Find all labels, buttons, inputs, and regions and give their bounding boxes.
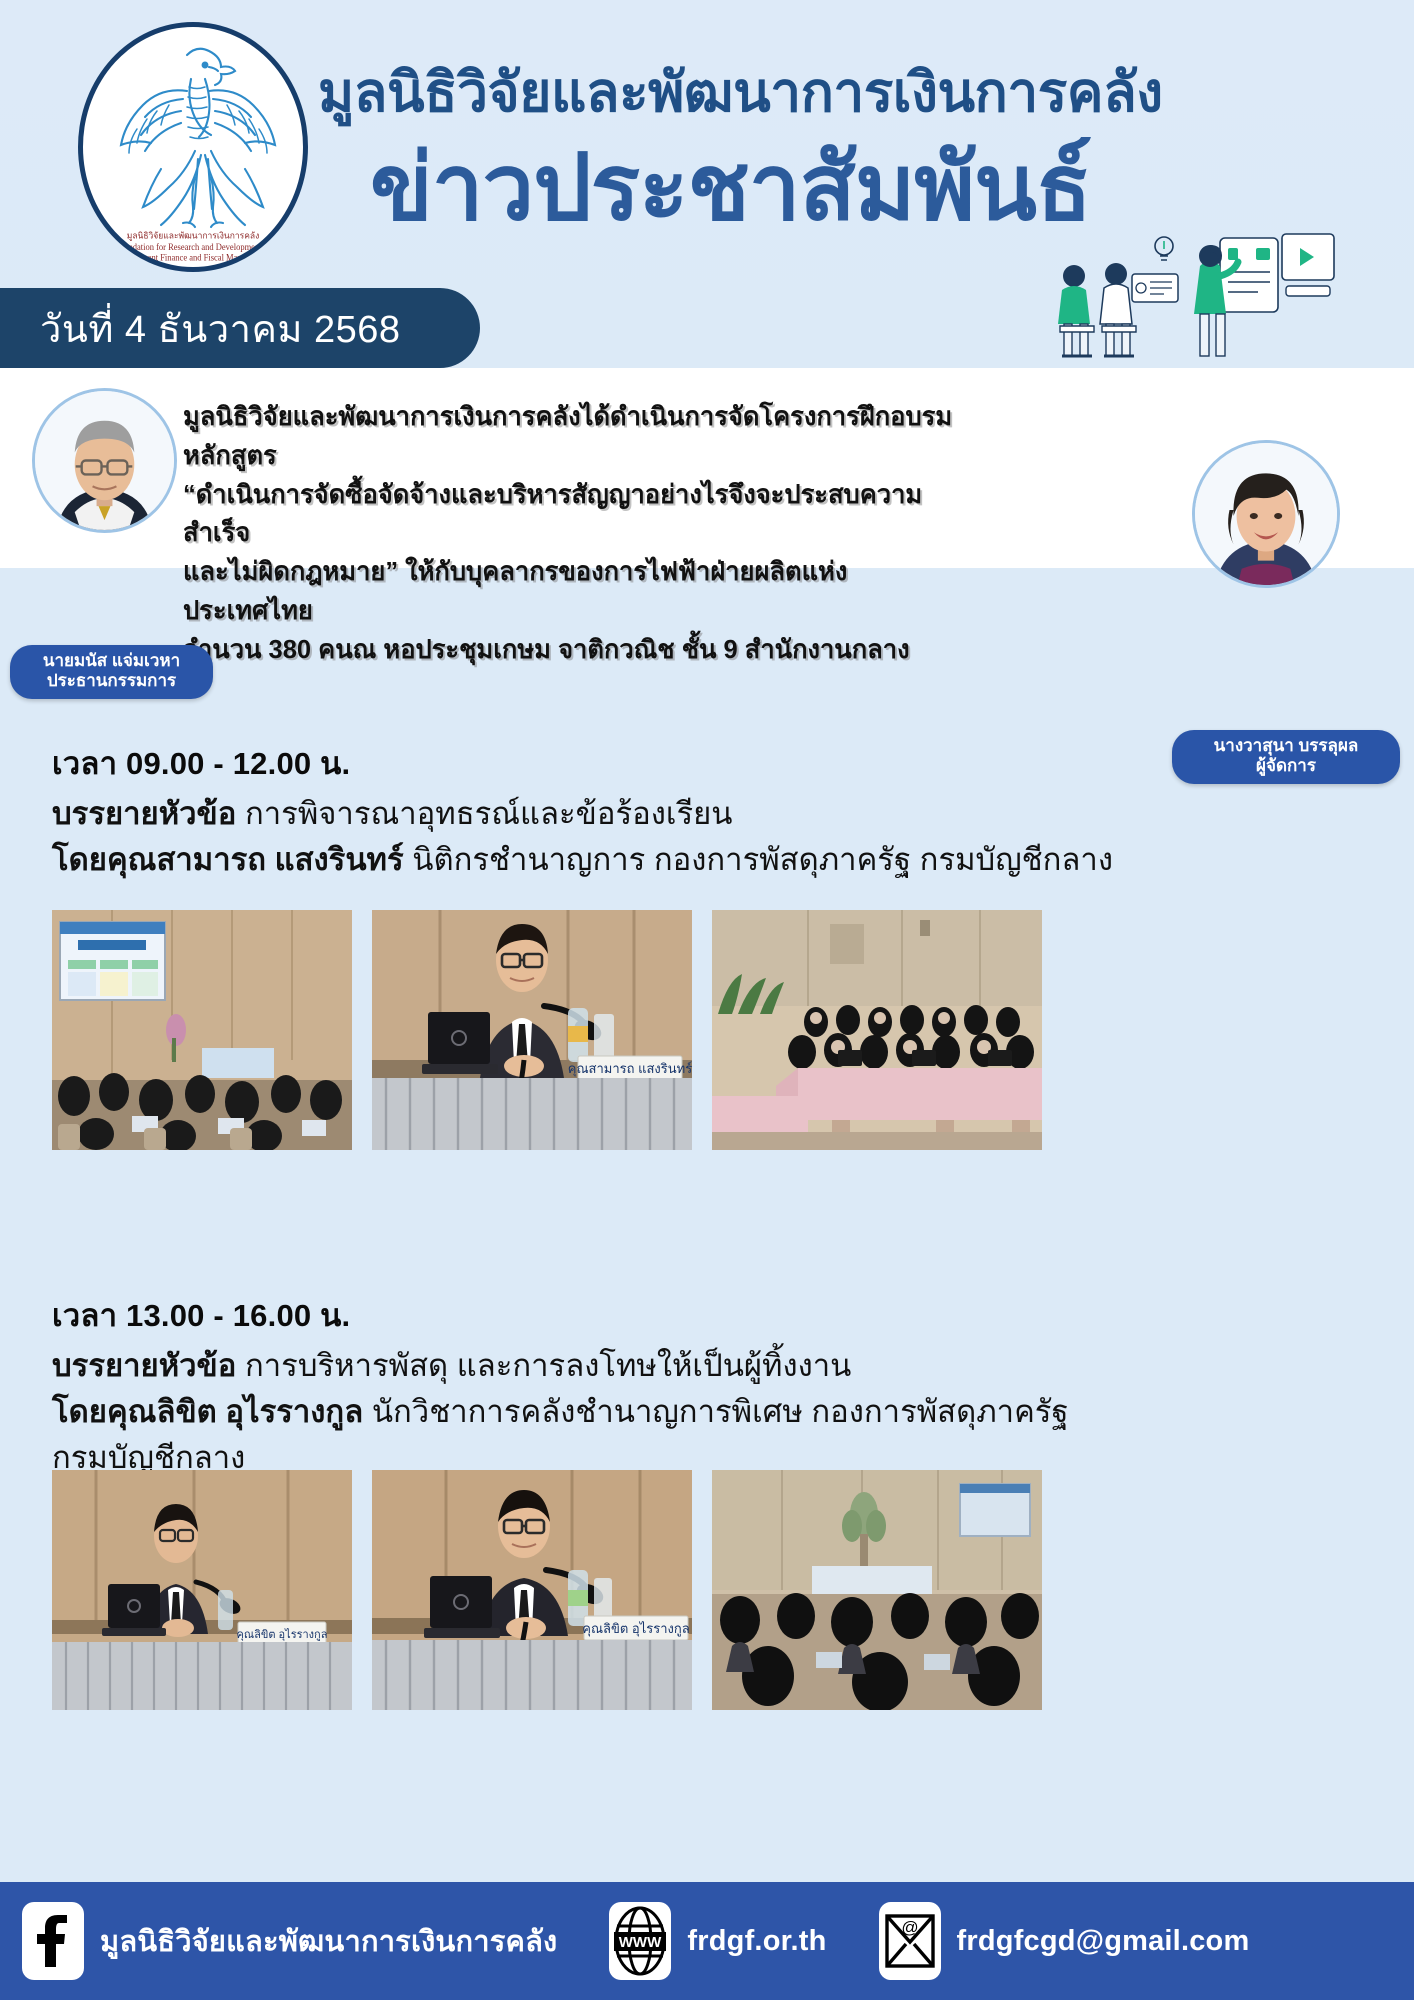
- svg-text:คุณลิขิต อุไรรางกูล: คุณลิขิต อุไรรางกูล: [582, 1621, 689, 1637]
- intro-paragraph: มูลนิธิวิจัยและพัฒนาการเงินการคลังได้ดำเ…: [183, 398, 953, 669]
- svg-text:@: @: [901, 1918, 918, 1937]
- chairman-name: นายมนัส แจ่มเวหา: [24, 651, 199, 671]
- organization-title: มูลนิธิวิจัยและพัฒนาการเงินการคลัง: [318, 62, 1378, 123]
- svg-text:WWW: WWW: [619, 1934, 662, 1951]
- session-morning-topic-row: บรรยายหัวข้อ การพิจารณาอุทธรณ์และข้อร้อง…: [52, 792, 1372, 836]
- photo-morning-3: [712, 910, 1042, 1150]
- photo-audience-with-screen-icon: [52, 910, 352, 1150]
- photo-row-morning: คุณสามารถ แสงรินทร์: [52, 910, 1362, 1150]
- session-morning: เวลา 09.00 - 12.00 น. บรรยายหัวข้อ การพิ…: [52, 738, 1372, 884]
- globe-glyph: WWW: [612, 1906, 668, 1976]
- footer-email[interactable]: @ frdgfcgd@gmail.com: [879, 1902, 1250, 1980]
- envelope-glyph: @: [883, 1910, 937, 1972]
- logo-ring-en-1: Foundation for Research and Development …: [83, 241, 303, 252]
- session-afternoon-time: เวลา 13.00 - 16.00 น.: [52, 1290, 1372, 1340]
- name-badge-chairman: นายมนัส แจ่มเวหา ประธานกรรมการ: [10, 645, 213, 699]
- page-title: ข่าวประชาสัมพันธ์: [370, 140, 1380, 237]
- svg-text:คุณสามารถ แสงรินทร์: คุณสามารถ แสงรินทร์: [568, 1061, 692, 1077]
- photo-morning-1: [52, 910, 352, 1150]
- svg-text:คุณลิขิต อุไรรางกูล: คุณลิขิต อุไรรางกูล: [237, 1628, 328, 1641]
- www-globe-icon[interactable]: WWW: [609, 1902, 671, 1980]
- session-morning-topic-label: บรรยายหัวข้อ: [52, 796, 236, 831]
- intro-line-4: จำนวน 380 คนณ หอประชุมเกษม จาติกวณิช ชั้…: [183, 631, 953, 670]
- photo-morning-2: คุณสามารถ แสงรินทร์: [372, 910, 692, 1150]
- session-morning-speaker-row: โดยคุณสามารถ แสงรินทร์ นิติกรชำนาญการ กอ…: [52, 838, 1372, 882]
- footer-email-text: frdgfcgd@gmail.com: [957, 1925, 1250, 1958]
- logo-ring-thai: มูลนิธิวิจัยและพัฒนาการเงินการคลัง: [83, 230, 303, 241]
- facebook-glyph: [33, 1915, 73, 1967]
- session-morning-topic: การพิจารณาอุทธรณ์และข้อร้องเรียน: [245, 796, 732, 831]
- intro-line-1: มูลนิธิวิจัยและพัฒนาการเงินการคลังได้ดำเ…: [183, 398, 953, 476]
- photo-speaker-likit-closeup-icon: คุณลิขิต อุไรรางกูล: [372, 1470, 692, 1710]
- logo-ring-caption: มูลนิธิวิจัยและพัฒนาการเงินการคลัง Found…: [83, 230, 303, 263]
- photo-audience-pink-tables-icon: [712, 910, 1042, 1150]
- photo-speaker-samart-icon: คุณสามารถ แสงรินทร์: [372, 910, 692, 1150]
- footer-facebook[interactable]: มูลนิธิวิจัยและพัฒนาการเงินการคลัง: [22, 1902, 557, 1980]
- session-afternoon-speaker: โดยคุณลิขิต อุไรรางกูล: [52, 1394, 363, 1429]
- footer-website-text: frdgf.or.th: [687, 1925, 826, 1958]
- avatar-manager: [1192, 440, 1340, 588]
- photo-audience-back-view-icon: [712, 1470, 1042, 1710]
- logo-ring-en-2: Government Finance and Fiscal Management: [83, 253, 303, 264]
- intro-line-3: และไม่ผิดกฎหมาย” ให้กับบุคลากรของการไฟฟ้…: [183, 553, 953, 631]
- date-banner: วันที่ 4 ธันวาคม 2568: [0, 288, 480, 368]
- session-afternoon: เวลา 13.00 - 16.00 น. บรรยายหัวข้อ การบร…: [52, 1290, 1372, 1482]
- chairman-role: ประธานกรรมการ: [24, 671, 199, 691]
- portrait-manager-icon: [1195, 443, 1337, 585]
- people-presentation-illustration: [1024, 230, 1354, 370]
- facebook-icon[interactable]: [22, 1902, 84, 1980]
- photo-speaker-likit-wide-icon: คุณลิขิต อุไรรางกูล: [52, 1470, 352, 1710]
- portrait-chairman-icon: [35, 391, 174, 530]
- email-envelope-icon[interactable]: @: [879, 1902, 941, 1980]
- footer-website[interactable]: WWW frdgf.or.th: [609, 1902, 826, 1980]
- session-afternoon-speaker-title: นักวิชาการคลังชำนาญการพิเศษ กองการพัสดุภ…: [372, 1394, 1069, 1429]
- session-afternoon-topic-row: บรรยายหัวข้อ การบริหารพัสดุ และการลงโทษใ…: [52, 1344, 1372, 1388]
- photo-afternoon-2: คุณลิขิต อุไรรางกูล: [372, 1470, 692, 1710]
- photo-afternoon-1: คุณลิขิต อุไรรางกูล: [52, 1470, 352, 1710]
- poster-footer: มูลนิธิวิจัยและพัฒนาการเงินการคลัง WWW f…: [0, 1882, 1414, 2000]
- avatar-chairman: [32, 388, 177, 533]
- session-afternoon-topic-label: บรรยายหัวข้อ: [52, 1348, 236, 1383]
- session-morning-speaker: โดยคุณสามารถ แสงรินทร์: [52, 842, 404, 877]
- photo-afternoon-3: [712, 1470, 1042, 1710]
- foundation-logo: มูลนิธิวิจัยและพัฒนาการเงินการคลัง Found…: [78, 22, 308, 272]
- session-afternoon-speaker-row: โดยคุณลิขิต อุไรรางกูล นักวิชาการคลังชำน…: [52, 1390, 1372, 1434]
- session-afternoon-topic: การบริหารพัสดุ และการลงโทษให้เป็นผู้ทิ้ง…: [245, 1348, 851, 1383]
- session-morning-speaker-title: นิติกรชำนาญการ กองการพัสดุภาครัฐ กรมบัญช…: [412, 842, 1113, 877]
- intro-line-2: “ดำเนินการจัดซื้อจัดจ้างและบริหารสัญญาอย…: [183, 476, 953, 554]
- footer-facebook-text: มูลนิธิวิจัยและพัฒนาการเงินการคลัง: [100, 1918, 557, 1964]
- date-label: วันที่ 4 ธันวาคม 2568: [40, 298, 401, 359]
- session-morning-time: เวลา 09.00 - 12.00 น.: [52, 738, 1372, 788]
- photo-row-afternoon: คุณลิขิต อุไรรางกูล: [52, 1470, 1362, 1710]
